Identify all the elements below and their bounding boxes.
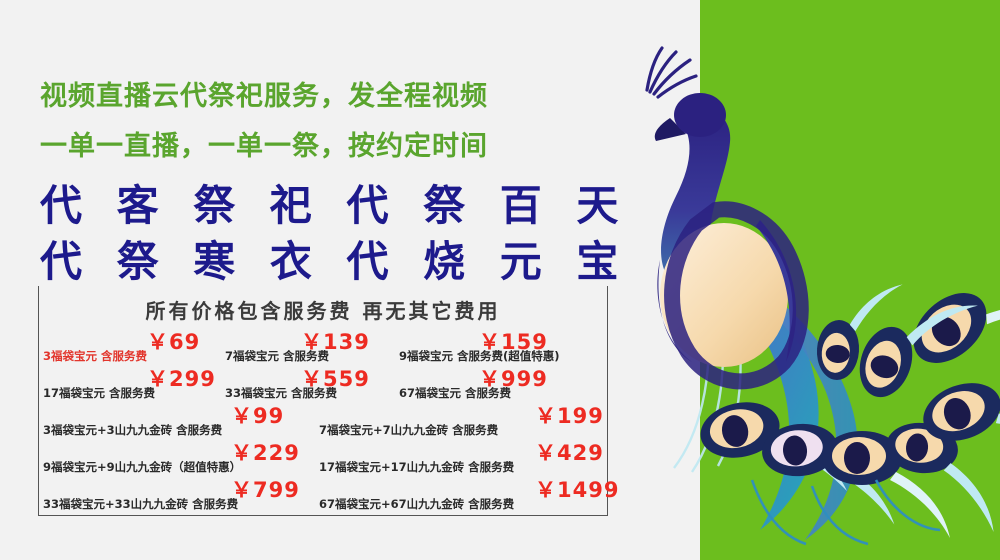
- poster-canvas: 视频直播云代祭祀服务，发全程视频 一单一直播，一单一祭，按约定时间 代 客 祭 …: [0, 0, 1000, 560]
- headline-bigline-1: 代 客 祭 祀 代 祭 百 天: [40, 178, 600, 234]
- price-description: 17福袋宝元 含服务费: [43, 385, 155, 401]
- price-row: ￥29917福袋宝元 含服务费￥55933福袋宝元 含服务费￥99967福袋宝元…: [39, 365, 607, 402]
- price-row: ￥993福袋宝元+3山九九金砖 含服务费￥1997福袋宝元+7山九九金砖 含服务…: [39, 402, 607, 439]
- price-amount: ￥799: [231, 474, 300, 504]
- price-description: 67福袋宝元+67山九九金砖 含服务费: [319, 496, 514, 512]
- peacock-head: [674, 93, 726, 137]
- price-table: 所有价格包含服务费 再无其它费用 ￥693福袋宝元 含服务费￥1397福袋宝元 …: [38, 286, 608, 516]
- price-row: ￥2299福袋宝元+9山九九金砖（超值特惠）￥42917福袋宝元+17山九九金砖…: [39, 439, 607, 476]
- price-amount: ￥99: [231, 400, 284, 430]
- headline-bigline-2: 代 祭 寒 衣 代 烧 元 宝: [40, 234, 600, 290]
- headline-subline-2: 一单一直播，一单一祭，按约定时间: [40, 122, 600, 172]
- headline-block: 视频直播云代祭祀服务，发全程视频 一单一直播，一单一祭，按约定时间 代 客 祭 …: [40, 72, 600, 290]
- headline-subline-1: 视频直播云代祭祀服务，发全程视频: [40, 72, 600, 122]
- peacock-crest-icon: [647, 48, 696, 97]
- price-row-list: ￥693福袋宝元 含服务费￥1397福袋宝元 含服务费￥1599福袋宝元 含服务…: [39, 328, 607, 513]
- price-description: 17福袋宝元+17山九九金砖 含服务费: [319, 459, 514, 475]
- price-description: 9福袋宝元+9山九九金砖（超值特惠）: [43, 459, 241, 475]
- price-description: 7福袋宝元 含服务费: [225, 348, 329, 364]
- price-description: 33福袋宝元+33山九九金砖 含服务费: [43, 496, 238, 512]
- price-description: 7福袋宝元+7山九九金砖 含服务费: [319, 422, 498, 438]
- price-description: 3福袋宝元+3山九九金砖 含服务费: [43, 422, 222, 438]
- price-amount: ￥199: [535, 400, 604, 430]
- price-description: 67福袋宝元 含服务费: [399, 385, 511, 401]
- price-amount: ￥429: [535, 437, 604, 467]
- price-row: ￥79933福袋宝元+33山九九金砖 含服务费￥149967福袋宝元+67山九九…: [39, 476, 607, 513]
- price-amount: ￥69: [147, 326, 200, 356]
- price-description: 3福袋宝元 含服务费: [43, 348, 147, 364]
- price-amount: ￥299: [147, 363, 216, 393]
- price-table-title: 所有价格包含服务费 再无其它费用: [39, 295, 607, 324]
- price-row: ￥693福袋宝元 含服务费￥1397福袋宝元 含服务费￥1599福袋宝元 含服务…: [39, 328, 607, 365]
- price-description: 9福袋宝元 含服务费(超值特惠): [399, 348, 560, 364]
- price-amount: ￥229: [231, 437, 300, 467]
- peacock-icon: [600, 10, 1000, 560]
- price-description: 33福袋宝元 含服务费: [225, 385, 337, 401]
